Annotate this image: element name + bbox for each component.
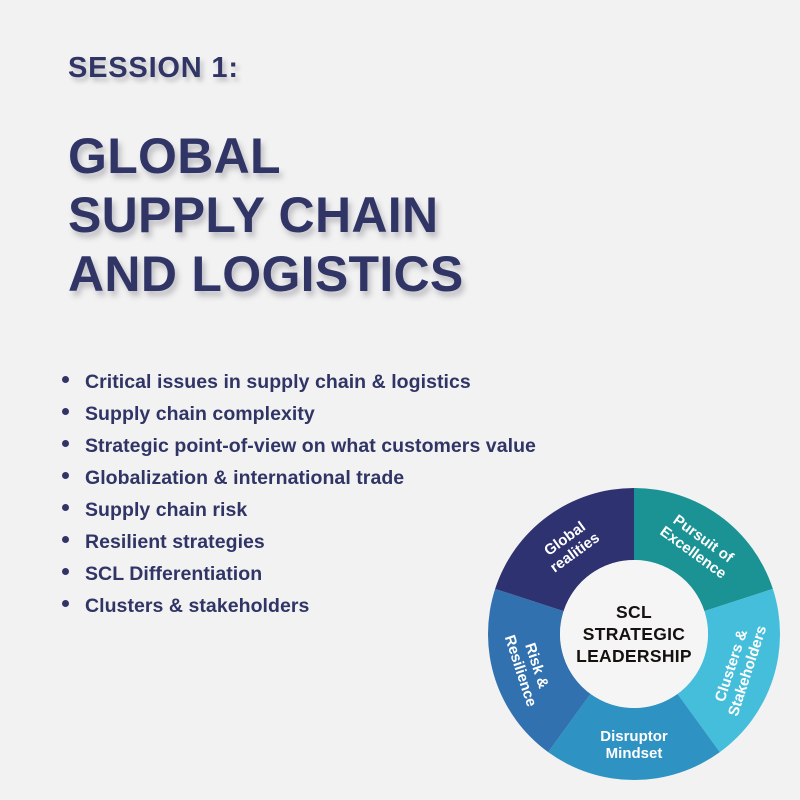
list-item-label: Strategic point-of-view on what customer… [85,430,536,462]
list-item: Resilient strategies [62,526,536,558]
scl-leadership-donut-chart: SCLSTRATEGICLEADERSHIP Pursuit ofExcelle… [488,488,780,780]
list-item-label: Clusters & stakeholders [85,590,309,622]
list-item-label: Globalization & international trade [85,462,404,494]
bullet-dot-icon [62,600,69,607]
donut-segment-label: DisruptorMindset [600,728,668,762]
bullet-dot-icon [62,536,69,543]
bullet-dot-icon [62,568,69,575]
bullet-dot-icon [62,408,69,415]
bullet-dot-icon [62,472,69,479]
list-item-label: SCL Differentiation [85,558,262,590]
list-item-label: Supply chain complexity [85,398,315,430]
list-item: Supply chain risk [62,494,536,526]
agenda-bullet-list: Critical issues in supply chain & logist… [62,366,536,622]
session-label: SESSION 1: [68,52,239,85]
donut-center-text-line: STRATEGIC [583,624,686,644]
list-item: Supply chain complexity [62,398,536,430]
list-item-label: Critical issues in supply chain & logist… [85,366,471,398]
slide-canvas: SESSION 1: GLOBAL SUPPLY CHAIN AND LOGIS… [0,0,800,800]
donut-segment-label-line: Disruptor [600,728,668,745]
bullet-dot-icon [62,440,69,447]
donut-svg: SCLSTRATEGICLEADERSHIP Pursuit ofExcelle… [488,488,780,780]
bullet-dot-icon [62,376,69,383]
donut-center-text-line: LEADERSHIP [576,646,692,666]
list-item: Globalization & international trade [62,462,536,494]
donut-center-text-line: SCL [616,602,652,622]
donut-segment-label-line: Mindset [606,745,663,762]
bullet-dot-icon [62,504,69,511]
list-item: Strategic point-of-view on what customer… [62,430,536,462]
list-item: Critical issues in supply chain & logist… [62,366,536,398]
list-item: Clusters & stakeholders [62,590,536,622]
page-title: GLOBAL SUPPLY CHAIN AND LOGISTICS [68,127,464,304]
list-item-label: Supply chain risk [85,494,247,526]
list-item-label: Resilient strategies [85,526,265,558]
list-item: SCL Differentiation [62,558,536,590]
